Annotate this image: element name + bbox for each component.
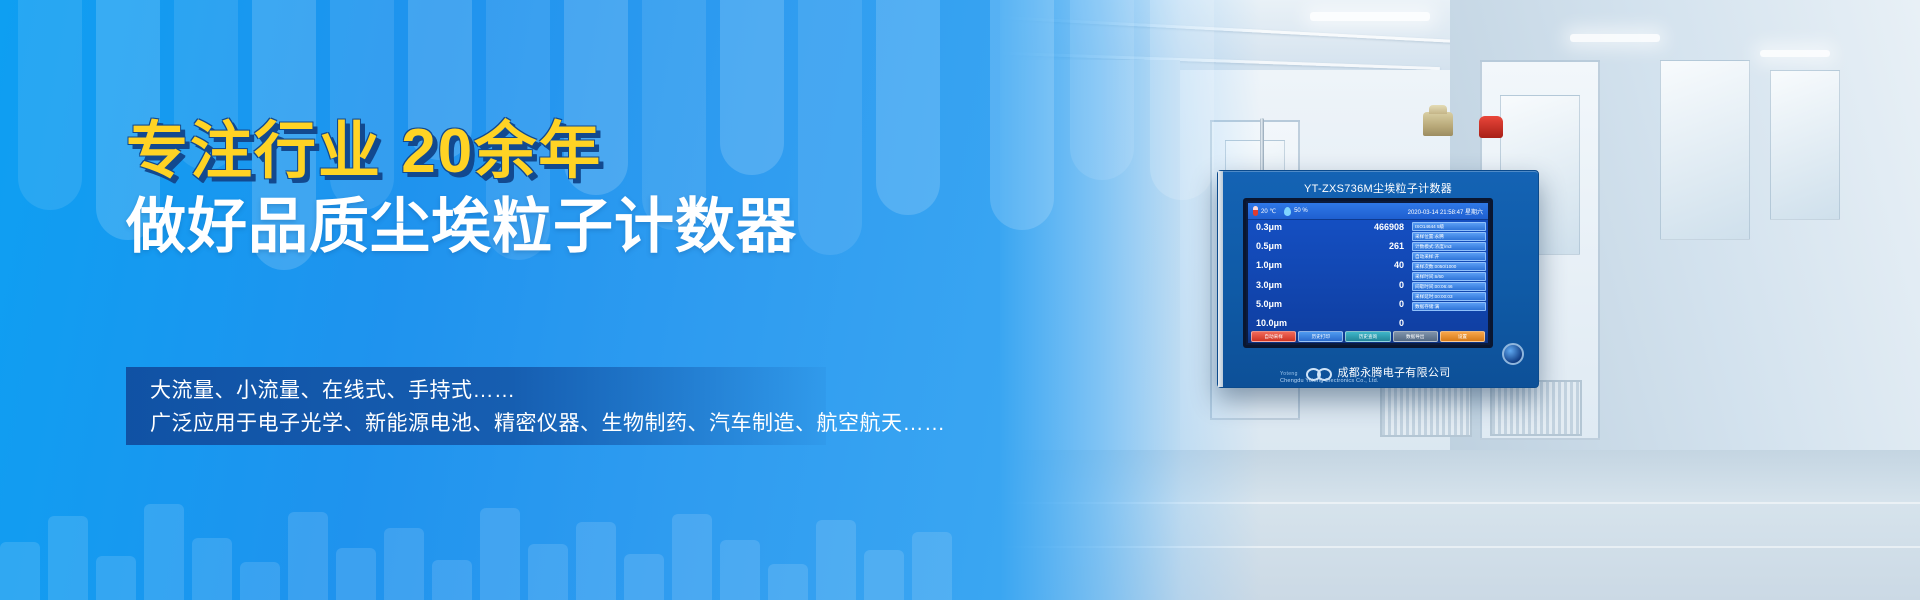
- settings-item[interactable]: 间歇时间:00:06:46: [1412, 282, 1486, 291]
- humidity-readout: 50 %: [1284, 207, 1308, 216]
- humidity-value: 50 %: [1294, 208, 1308, 214]
- settings-button[interactable]: 设置: [1440, 331, 1485, 342]
- deco-eq-bar: [192, 538, 232, 600]
- deco-bar: [1150, 0, 1214, 200]
- particle-size: 10.0μm: [1256, 319, 1287, 328]
- particle-size: 3.0μm: [1256, 281, 1282, 290]
- headline-block: 专注行业 20余年 做好品质尘埃粒子计数器: [126, 118, 886, 261]
- device-left-edge: [1218, 171, 1223, 387]
- wall-vent: [1490, 380, 1582, 436]
- settings-item[interactable]: ISO14644 5级: [1412, 222, 1486, 231]
- deco-eq-bar: [768, 564, 808, 600]
- deco-eq-bar: [384, 528, 424, 600]
- deco-eq-bar: [576, 522, 616, 600]
- company-name-en: Chengdu Yoteng Electronics Co., Ltd.: [1280, 378, 1379, 384]
- particle-count-table: 0.3μm 466908 0.5μm 261 1.0μm 40 3.0μm: [1248, 220, 1410, 330]
- thermometer-icon: [1253, 206, 1258, 216]
- particle-counter-device: YT-ZXS736M尘埃粒子计数器 20 ℃ 50 % 2020-03-14 2…: [1217, 170, 1539, 388]
- particle-count: 466908: [1374, 223, 1404, 232]
- deco-eq-bar: [288, 512, 328, 600]
- deco-eq-bar: [0, 542, 40, 600]
- antenna-icon: [1260, 118, 1264, 172]
- settings-item[interactable]: 计数模式:浓度/m3: [1412, 242, 1486, 251]
- auto-sample-button[interactable]: 自动采样: [1251, 331, 1296, 342]
- settings-item[interactable]: 自动采样:开: [1412, 252, 1486, 261]
- wall-window: [1660, 60, 1750, 240]
- temperature-readout: 20 ℃: [1253, 206, 1276, 216]
- particle-count: 261: [1389, 242, 1404, 251]
- red-beacon-icon: [1479, 116, 1503, 138]
- particle-count: 0: [1399, 281, 1404, 290]
- deco-bar: [990, 0, 1054, 230]
- table-row: 1.0μm 40: [1256, 261, 1404, 270]
- brass-connector-icon: [1423, 112, 1453, 136]
- equalizer-bottom-pattern: [0, 490, 1260, 600]
- settings-item[interactable]: 数据存储:满: [1412, 302, 1486, 311]
- settings-item[interactable]: 采样次数:0050/1000: [1412, 262, 1486, 271]
- deco-eq-bar: [48, 516, 88, 600]
- ceiling-lamp: [1570, 34, 1660, 42]
- deco-eq-bar: [432, 560, 472, 600]
- deco-eq-bar: [864, 550, 904, 600]
- deco-eq-bar: [528, 544, 568, 600]
- deco-bar: [1070, 0, 1134, 180]
- deco-eq-bar: [480, 508, 520, 600]
- subtitle-line-2: 广泛应用于电子光学、新能源电池、精密仪器、生物制药、汽车制造、航空航天……: [150, 407, 870, 440]
- headline-top: 专注行业 20余年: [126, 118, 886, 186]
- ceiling-lamp: [1310, 12, 1430, 21]
- deco-eq-bar: [912, 532, 952, 600]
- particle-size: 5.0μm: [1256, 300, 1282, 309]
- subtitle-line-1: 大流量、小流量、在线式、手持式……: [150, 374, 870, 407]
- table-row: 0.3μm 466908: [1256, 223, 1404, 232]
- headline-main: 做好品质尘埃粒子计数器: [126, 192, 886, 261]
- settings-item[interactable]: 采样位置:永腾: [1412, 232, 1486, 241]
- deco-eq-bar: [816, 520, 856, 600]
- banner-stage: 专注行业 20余年 做好品质尘埃粒子计数器 大流量、小流量、在线式、手持式…… …: [0, 0, 1920, 600]
- particle-size: 1.0μm: [1256, 261, 1282, 270]
- table-row: 0.5μm 261: [1256, 242, 1404, 251]
- table-row: 10.0μm 0: [1256, 319, 1404, 328]
- temperature-value: 20 ℃: [1261, 208, 1276, 215]
- table-row: 5.0μm 0: [1256, 300, 1404, 309]
- screen-button-bar: 自动采样 历史打印 历史查询 数据导出 设置: [1248, 330, 1488, 343]
- brand-subtext: Yoteng Chengdu Yoteng Electronics Co., L…: [1280, 372, 1379, 384]
- particle-count: 40: [1394, 261, 1404, 270]
- device-screen[interactable]: 20 ℃ 50 % 2020-03-14 21:58:47 星期六 0.3μm …: [1243, 198, 1493, 348]
- deco-eq-bar: [240, 562, 280, 600]
- settings-panel: ISO14644 5级 采样位置:永腾 计数模式:浓度/m3 自动采样:开 采样…: [1410, 220, 1488, 330]
- deco-eq-bar: [336, 548, 376, 600]
- subtitle-block: 大流量、小流量、在线式、手持式…… 广泛应用于电子光学、新能源电池、精密仪器、生…: [150, 374, 870, 440]
- particle-size: 0.3μm: [1256, 223, 1282, 232]
- deco-eq-bar: [144, 504, 184, 600]
- ceiling-lamp: [1760, 50, 1830, 57]
- deco-bar: [18, 0, 82, 210]
- wall-vent: [1380, 385, 1472, 437]
- settings-item[interactable]: 采样时间:6/60: [1412, 272, 1486, 281]
- data-export-button[interactable]: 数据导出: [1393, 331, 1438, 342]
- table-row: 3.0μm 0: [1256, 281, 1404, 290]
- deco-eq-bar: [720, 540, 760, 600]
- particle-count: 0: [1399, 319, 1404, 328]
- history-print-button[interactable]: 历史打印: [1298, 331, 1343, 342]
- water-drop-icon: [1284, 207, 1291, 216]
- particle-size: 0.5μm: [1256, 242, 1282, 251]
- history-query-button[interactable]: 历史查询: [1345, 331, 1390, 342]
- deco-eq-bar: [96, 556, 136, 600]
- screen-status-bar: 20 ℃ 50 % 2020-03-14 21:58:47 星期六: [1248, 203, 1488, 220]
- power-led-icon[interactable]: [1502, 343, 1524, 365]
- device-model-title: YT-ZXS736M尘埃粒子计数器: [1218, 180, 1538, 196]
- settings-item[interactable]: 采样延时:00:00:03: [1412, 292, 1486, 301]
- datetime-readout: 2020-03-14 21:58:47 星期六: [1408, 207, 1483, 216]
- deco-eq-bar: [624, 554, 664, 600]
- deco-eq-bar: [672, 514, 712, 600]
- wall-window: [1770, 70, 1840, 220]
- particle-count: 0: [1399, 300, 1404, 309]
